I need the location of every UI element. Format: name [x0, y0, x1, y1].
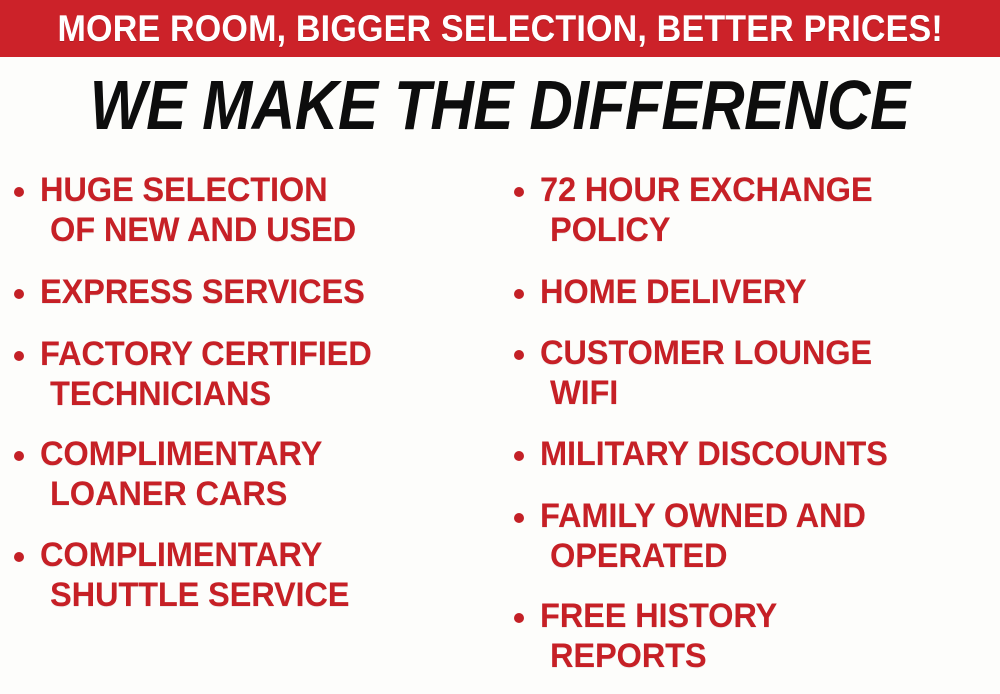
list-item: HUGE SELECTION OF NEW AND USED: [14, 170, 369, 250]
bullet-dot-icon: [14, 289, 24, 299]
list-item-text: HUGE SELECTION OF NEW AND USED: [40, 170, 369, 250]
bullet-dot-icon: [514, 187, 524, 197]
list-item-line2: OPERATED: [550, 536, 727, 576]
list-item: FACTORY CERTIFIED TECHNICIANS: [14, 334, 385, 414]
list-item-text: FREE HISTORY REPORTS: [540, 596, 787, 676]
list-item-line1: FACTORY CERTIFIED: [40, 334, 372, 374]
list-item-text: COMPLIMENTARY LOANER CARS: [40, 434, 334, 514]
list-item-line2: POLICY: [550, 210, 670, 250]
benefits-column-right: 72 HOUR EXCHANGE POLICY HOME DELIVERY CU…: [514, 163, 1000, 694]
banner-headline: MORE ROOM, BIGGER SELECTION, BETTER PRIC…: [57, 10, 942, 47]
list-item-text: 72 HOUR EXCHANGE POLICY: [540, 170, 886, 250]
list-item-text: MILITARY DISCOUNTS: [540, 434, 902, 474]
headline-area: WE MAKE THE DIFFERENCE: [0, 66, 1000, 144]
list-item-line2: LOANER CARS: [50, 474, 287, 514]
list-item-line1: CUSTOMER LOUNGE: [540, 333, 872, 373]
list-item-line1: FREE HISTORY: [540, 596, 777, 636]
bullet-dot-icon: [14, 187, 24, 197]
list-item-line2: WIFI: [550, 373, 618, 413]
list-item-line1: 72 HOUR EXCHANGE: [540, 170, 872, 210]
bullet-dot-icon: [14, 351, 24, 361]
list-item-text: COMPLIMENTARY SHUTTLE SERVICE: [40, 535, 362, 615]
list-item-line1: FAMILY OWNED AND: [540, 496, 866, 536]
bullet-dot-icon: [14, 552, 24, 562]
promo-poster: MORE ROOM, BIGGER SELECTION, BETTER PRIC…: [0, 0, 1000, 694]
bullet-dot-icon: [514, 289, 524, 299]
list-item-text: CUSTOMER LOUNGE WIFI: [540, 333, 886, 413]
list-item: COMPLIMENTARY SHUTTLE SERVICE: [14, 535, 362, 615]
bullet-dot-icon: [514, 350, 524, 360]
list-item-line2: REPORTS: [550, 636, 706, 676]
list-item: FAMILY OWNED AND OPERATED: [514, 496, 879, 576]
list-item: HOME DELIVERY: [514, 272, 818, 312]
list-item-line1: EXPRESS SERVICES: [40, 272, 365, 312]
list-item-line1: HOME DELIVERY: [540, 272, 807, 312]
bullet-dot-icon: [514, 613, 524, 623]
list-item-line1: COMPLIMENTARY: [40, 434, 322, 474]
bullet-dot-icon: [14, 451, 24, 461]
list-item: FREE HISTORY REPORTS: [514, 596, 787, 676]
list-item: EXPRESS SERVICES: [14, 272, 378, 312]
top-banner: MORE ROOM, BIGGER SELECTION, BETTER PRIC…: [0, 0, 1000, 57]
list-item: MILITARY DISCOUNTS: [514, 434, 902, 474]
list-item-text: FAMILY OWNED AND OPERATED: [540, 496, 879, 576]
list-item: CUSTOMER LOUNGE WIFI: [514, 333, 886, 413]
list-item: COMPLIMENTARY LOANER CARS: [14, 434, 334, 514]
list-item: 72 HOUR EXCHANGE POLICY: [514, 170, 886, 250]
page-title: WE MAKE THE DIFFERENCE: [90, 70, 910, 140]
benefits-column-left: HUGE SELECTION OF NEW AND USED EXPRESS S…: [14, 163, 506, 694]
list-item-text: HOME DELIVERY: [540, 272, 818, 312]
list-item-line1: MILITARY DISCOUNTS: [540, 434, 888, 474]
list-item-text: FACTORY CERTIFIED TECHNICIANS: [40, 334, 385, 414]
list-item-line2: SHUTTLE SERVICE: [50, 575, 349, 615]
bullet-dot-icon: [514, 513, 524, 523]
list-item-line1: HUGE SELECTION: [40, 170, 327, 210]
list-item-line1: COMPLIMENTARY: [40, 535, 322, 575]
benefits-columns: HUGE SELECTION OF NEW AND USED EXPRESS S…: [0, 163, 1000, 694]
bullet-dot-icon: [514, 451, 524, 461]
list-item-line2: OF NEW AND USED: [50, 210, 356, 250]
list-item-line2: TECHNICIANS: [50, 374, 271, 414]
list-item-text: EXPRESS SERVICES: [40, 272, 378, 312]
